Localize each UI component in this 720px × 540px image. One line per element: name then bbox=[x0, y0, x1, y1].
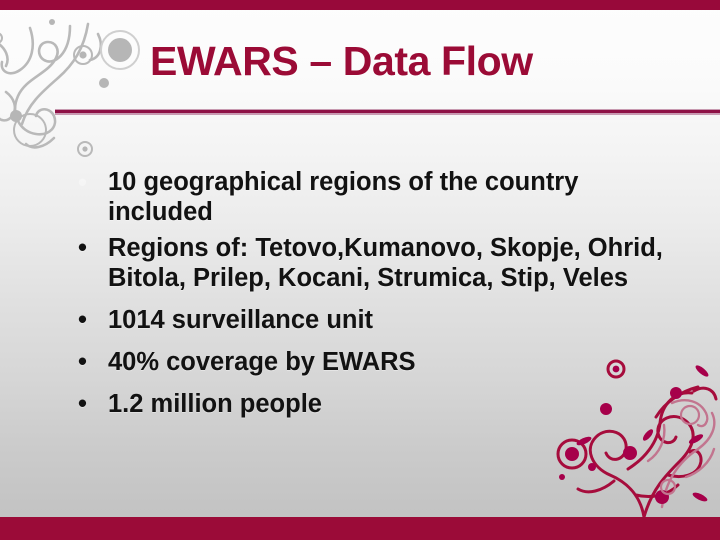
list-item: • 40% coverage by EWARS bbox=[70, 348, 670, 378]
list-item: • Regions of: Tetovo,Kumanovo, Skopje, O… bbox=[70, 234, 670, 294]
list-item-label: Regions of: Tetovo,Kumanovo, Skopje, Ohr… bbox=[108, 234, 670, 294]
top-accent-band bbox=[0, 0, 720, 10]
page-title: EWARS – Data Flow bbox=[150, 38, 533, 85]
bottom-accent-band bbox=[0, 517, 720, 540]
list-item: • 1.2 million people bbox=[70, 390, 670, 420]
bullet-glyph-icon: • bbox=[70, 390, 108, 420]
list-item-label: 1.2 million people bbox=[108, 390, 670, 420]
bullet-glyph-icon: • bbox=[70, 306, 108, 336]
list-item-label: 40% coverage by EWARS bbox=[108, 348, 670, 378]
presentation-slide: EWARS – Data Flow • 10 geographical regi… bbox=[0, 0, 720, 540]
title-divider bbox=[55, 109, 720, 114]
list-item: • 10 geographical regions of the country… bbox=[70, 168, 670, 228]
bullet-glyph-icon: • bbox=[70, 234, 108, 264]
bullet-glyph-icon: • bbox=[70, 168, 108, 198]
list-item: • 1014 surveillance unit bbox=[70, 306, 670, 336]
floral-swirl-ornament-icon-top-left bbox=[0, 8, 152, 168]
list-item-label: 1014 surveillance unit bbox=[108, 306, 670, 336]
bullet-glyph-icon: • bbox=[70, 348, 108, 378]
list-item-label: 10 geographical regions of the country i… bbox=[108, 168, 670, 228]
slide-body-list: • 10 geographical regions of the country… bbox=[70, 168, 670, 422]
